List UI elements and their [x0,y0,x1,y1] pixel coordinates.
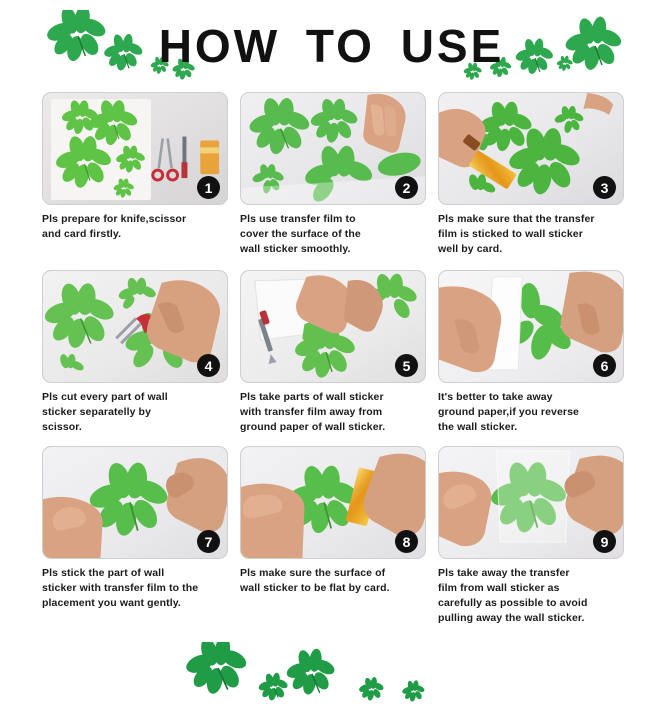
card-icon [200,140,219,174]
step-cell-6: 6 It's better to take away ground paper,… [438,270,628,446]
steps-grid: 1 Pls prepare for knife,scissor and card… [0,92,663,624]
step-photo-1[interactable]: 1 [42,92,228,205]
step-badge: 9 [593,530,616,553]
step-badge: 3 [593,176,616,199]
step-photo-3[interactable]: 3 [438,92,624,205]
step-cell-8: 8 Pls make sure the surface of wall stic… [240,446,430,624]
step-caption: Pls make sure that the transfer film is … [438,212,628,257]
step-caption: Pls stick the part of wall sticker with … [42,566,232,611]
step-cell-9: 9 Pls take away the transfer film from w… [438,446,628,624]
step-badge: 7 [197,530,220,553]
step-photo-5[interactable]: 5 [240,270,426,383]
step-caption: Pls take away the transfer film from wal… [438,566,628,626]
scissors-icon [153,139,178,181]
step-caption: Pls use transfer film to cover the surfa… [240,212,430,257]
step-photo-6[interactable]: 6 [438,270,624,383]
step-cell-4: 4 Pls cut every part of wall sticker sep… [42,270,232,446]
step-photo-7[interactable]: 7 [42,446,228,559]
step-caption: Pls take parts of wall sticker with tran… [240,390,430,435]
step-photo-8[interactable]: 8 [240,446,426,559]
step-cell-3: 3 Pls make sure that the transfer film i… [438,92,628,270]
step-badge: 5 [395,354,418,377]
step-photo-2[interactable]: 2 [240,92,426,205]
step-caption: Pls make sure the surface of wall sticke… [240,566,430,596]
hands-graphic [241,484,305,558]
step-cell-1: 1 Pls prepare for knife,scissor and card… [42,92,232,270]
step-cell-2: 2 Pls use transfer film to cover the sur… [240,92,430,270]
page-header: HOW TO USE [0,0,663,92]
footer-flower-decoration [170,642,500,714]
step-caption: Pls prepare for knife,scissor and card f… [42,212,232,242]
step-badge: 8 [395,530,418,553]
step-badge: 4 [197,354,220,377]
step-photo-9[interactable]: 9 [438,446,624,559]
step-badge: 1 [197,176,220,199]
step-cell-5: 5 Pls take parts of wall sticker with tr… [240,270,430,446]
step-badge: 2 [395,176,418,199]
step-badge: 6 [593,354,616,377]
hand-graphic [363,94,405,153]
step-photo-4[interactable]: 4 [42,270,228,383]
hand-graphic [147,280,220,362]
knife-icon [181,137,187,179]
step-cell-7: 7 Pls stick the part of wall sticker wit… [42,446,232,624]
step-caption: Pls cut every part of wall sticker separ… [42,390,232,435]
step-caption: It's better to take away ground paper,if… [438,390,628,435]
page-title: HOW TO USE [159,19,505,73]
